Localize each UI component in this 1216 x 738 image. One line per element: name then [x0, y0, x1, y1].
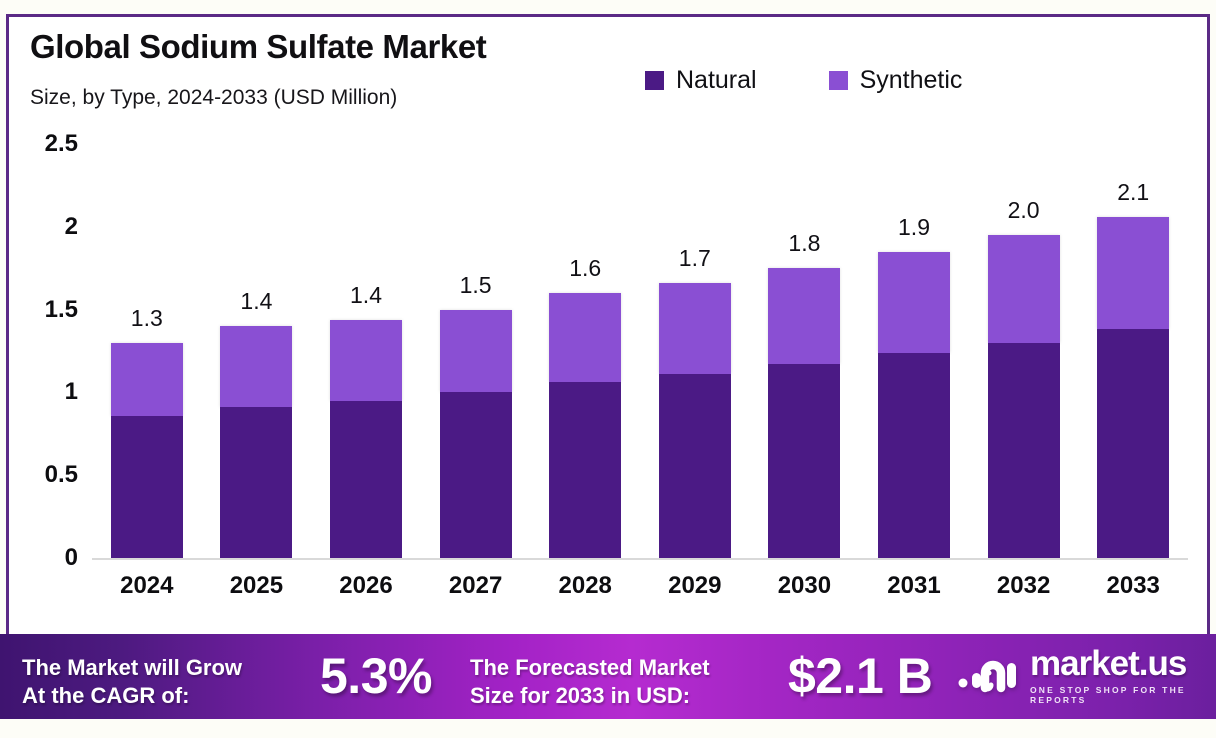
bar-segment-natural[interactable] — [988, 343, 1060, 558]
x-axis-tick-label: 2027 — [449, 572, 502, 600]
bar-value-label: 1.5 — [460, 272, 492, 299]
bar-group[interactable] — [330, 320, 402, 558]
bar-segment-synthetic[interactable] — [988, 235, 1060, 343]
x-axis-tick-label: 2024 — [120, 572, 173, 600]
cagr-label-line2: At the CAGR of: — [22, 682, 242, 710]
bar-segment-natural[interactable] — [111, 416, 183, 558]
bar-value-label: 1.8 — [788, 230, 820, 257]
bar-group[interactable] — [220, 326, 292, 558]
x-axis-tick-label: 2029 — [668, 572, 721, 600]
x-axis-tick-label: 2026 — [339, 572, 392, 600]
bar-segment-synthetic[interactable] — [549, 293, 621, 382]
y-axis-tick-label: 1.5 — [45, 296, 78, 324]
bar-value-label: 1.4 — [240, 288, 272, 315]
x-axis-line — [92, 558, 1188, 560]
bar-value-label: 2.0 — [1008, 197, 1040, 224]
bar-segment-synthetic[interactable] — [659, 283, 731, 374]
bar-segment-natural[interactable] — [220, 407, 292, 558]
bar-group[interactable] — [440, 310, 512, 558]
bar-segment-synthetic[interactable] — [878, 252, 950, 353]
bar-segment-synthetic[interactable] — [1097, 217, 1169, 330]
y-axis-tick-label: 2 — [65, 213, 78, 241]
y-axis-tick-label: 2.5 — [45, 130, 78, 158]
bar-segment-synthetic[interactable] — [220, 326, 292, 407]
bar-segment-natural[interactable] — [330, 401, 402, 558]
x-axis-tick-label: 2025 — [230, 572, 283, 600]
chart-infographic: Global Sodium Sulfate Market Size, by Ty… — [0, 0, 1216, 738]
bar-value-label: 2.1 — [1117, 179, 1149, 206]
bar-segment-synthetic[interactable] — [111, 343, 183, 416]
logo-tagline: ONE STOP SHOP FOR THE REPORTS — [1030, 685, 1216, 705]
x-axis-tick-label: 2033 — [1106, 572, 1159, 600]
bar-segment-natural[interactable] — [878, 353, 950, 558]
bar-segment-natural[interactable] — [768, 364, 840, 558]
bar-value-label: 1.6 — [569, 255, 601, 282]
bar-value-label: 1.9 — [898, 214, 930, 241]
bar-group[interactable] — [878, 252, 950, 558]
cagr-label-line1: The Market will Grow — [22, 654, 242, 682]
bar-segment-synthetic[interactable] — [440, 310, 512, 393]
bar-segment-natural[interactable] — [659, 374, 731, 558]
logo-text: market.us ONE STOP SHOP FOR THE REPORTS — [1030, 646, 1216, 705]
bar-segment-natural[interactable] — [1097, 329, 1169, 558]
x-axis-tick-label: 2031 — [887, 572, 940, 600]
logo-wordmark: market.us — [1030, 646, 1216, 681]
bar-value-label: 1.3 — [131, 305, 163, 332]
bar-group[interactable] — [1097, 217, 1169, 558]
bar-segment-natural[interactable] — [549, 382, 621, 558]
y-axis-tick-label: 0 — [65, 544, 78, 572]
bar-group[interactable] — [659, 283, 731, 558]
forecast-label: The Forecasted Market Size for 2033 in U… — [470, 654, 710, 709]
y-axis-tick-label: 0.5 — [45, 461, 78, 489]
bar-group[interactable] — [768, 268, 840, 558]
bar-group[interactable] — [988, 235, 1060, 558]
x-axis-tick-label: 2032 — [997, 572, 1050, 600]
market-us-mark-icon — [958, 653, 1020, 698]
y-axis-tick-label: 1 — [65, 378, 78, 406]
cagr-label: The Market will Grow At the CAGR of: — [22, 654, 242, 709]
bar-segment-synthetic[interactable] — [768, 268, 840, 364]
forecast-label-line1: The Forecasted Market — [470, 654, 710, 682]
bar-group[interactable] — [111, 343, 183, 558]
bar-value-label: 1.4 — [350, 282, 382, 309]
bar-segment-synthetic[interactable] — [330, 320, 402, 401]
bar-value-label: 1.7 — [679, 245, 711, 272]
forecast-label-line2: Size for 2033 in USD: — [470, 682, 710, 710]
cagr-value: 5.3% — [320, 647, 432, 705]
forecast-value: $2.1 B — [788, 647, 932, 705]
x-axis-tick-label: 2028 — [558, 572, 611, 600]
bar-group[interactable] — [549, 293, 621, 558]
bar-segment-natural[interactable] — [440, 392, 512, 558]
y-axis: 00.511.522.5 — [0, 0, 78, 738]
market-us-logo[interactable]: market.us ONE STOP SHOP FOR THE REPORTS — [958, 646, 1216, 705]
x-axis-tick-label: 2030 — [778, 572, 831, 600]
plot-area: 1.320241.420251.420261.520271.620281.720… — [92, 0, 1188, 558]
